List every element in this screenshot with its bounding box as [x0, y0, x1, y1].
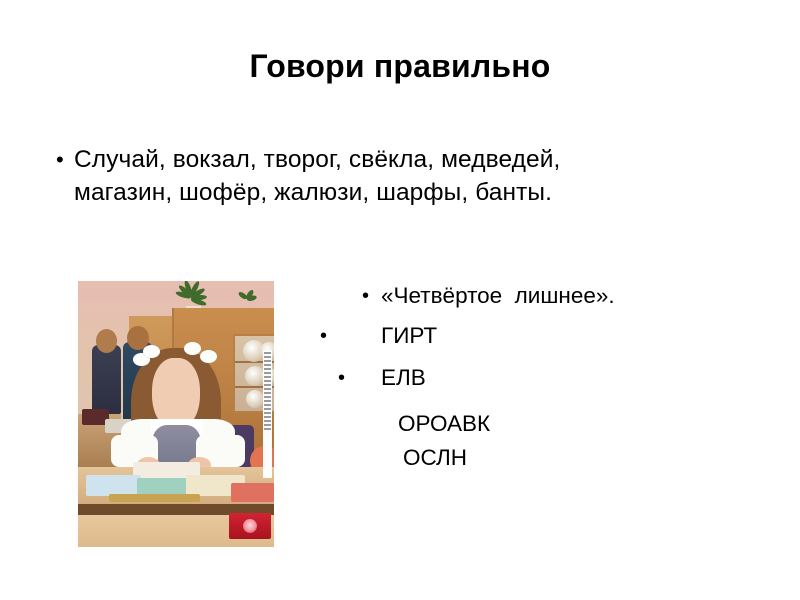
pencil [109, 494, 199, 502]
word-list: • Случай, вокзал, творог, свёкла, медвед… [56, 143, 616, 209]
classroom-photo [78, 281, 274, 547]
fourth-extra-block: • «Четвёртое лишнее». • ГИРТ • ЕЛВ ОРОАВ… [300, 278, 790, 476]
word-list-text: Случай, вокзал, творог, свёкла, медведей… [74, 143, 616, 209]
letter-group-oroavk: ОРОАВК [398, 406, 490, 442]
hair-bow-right [184, 342, 201, 355]
list-item: • «Четвёртое лишнее». [300, 278, 790, 314]
fourth-extra-heading: «Четвёртое лишнее». [381, 278, 615, 314]
bullet-icon: • [320, 318, 327, 354]
bullet-icon: • [338, 360, 345, 396]
list-item: • ЕЛВ [300, 360, 790, 396]
logo-mark-icon [243, 519, 257, 533]
list-item: • Случай, вокзал, творог, свёкла, медвед… [56, 143, 616, 209]
book-spine-text [263, 350, 272, 478]
desk-paper [231, 483, 274, 502]
list-item: • ГИРТ [300, 318, 790, 354]
page-title: Говори правильно [40, 48, 760, 85]
list-item: ОРОАВК [300, 406, 790, 442]
hair-bow-left2 [143, 345, 160, 358]
background-child-1-head [96, 329, 118, 353]
hair-bow-right2 [200, 350, 217, 363]
list-item: ОСЛН [300, 440, 790, 476]
bullet-icon: • [362, 278, 369, 314]
background-child-1 [92, 345, 121, 414]
slide: Говори правильно • Случай, вокзал, творо… [0, 0, 800, 600]
photo-canvas [78, 281, 274, 547]
letter-group-osln: ОСЛН [403, 440, 467, 476]
letter-group-girt: ГИРТ [381, 318, 437, 354]
publisher-logo [229, 513, 271, 539]
bullet-icon: • [56, 143, 74, 176]
letter-group-elv: ЕЛВ [381, 360, 426, 396]
